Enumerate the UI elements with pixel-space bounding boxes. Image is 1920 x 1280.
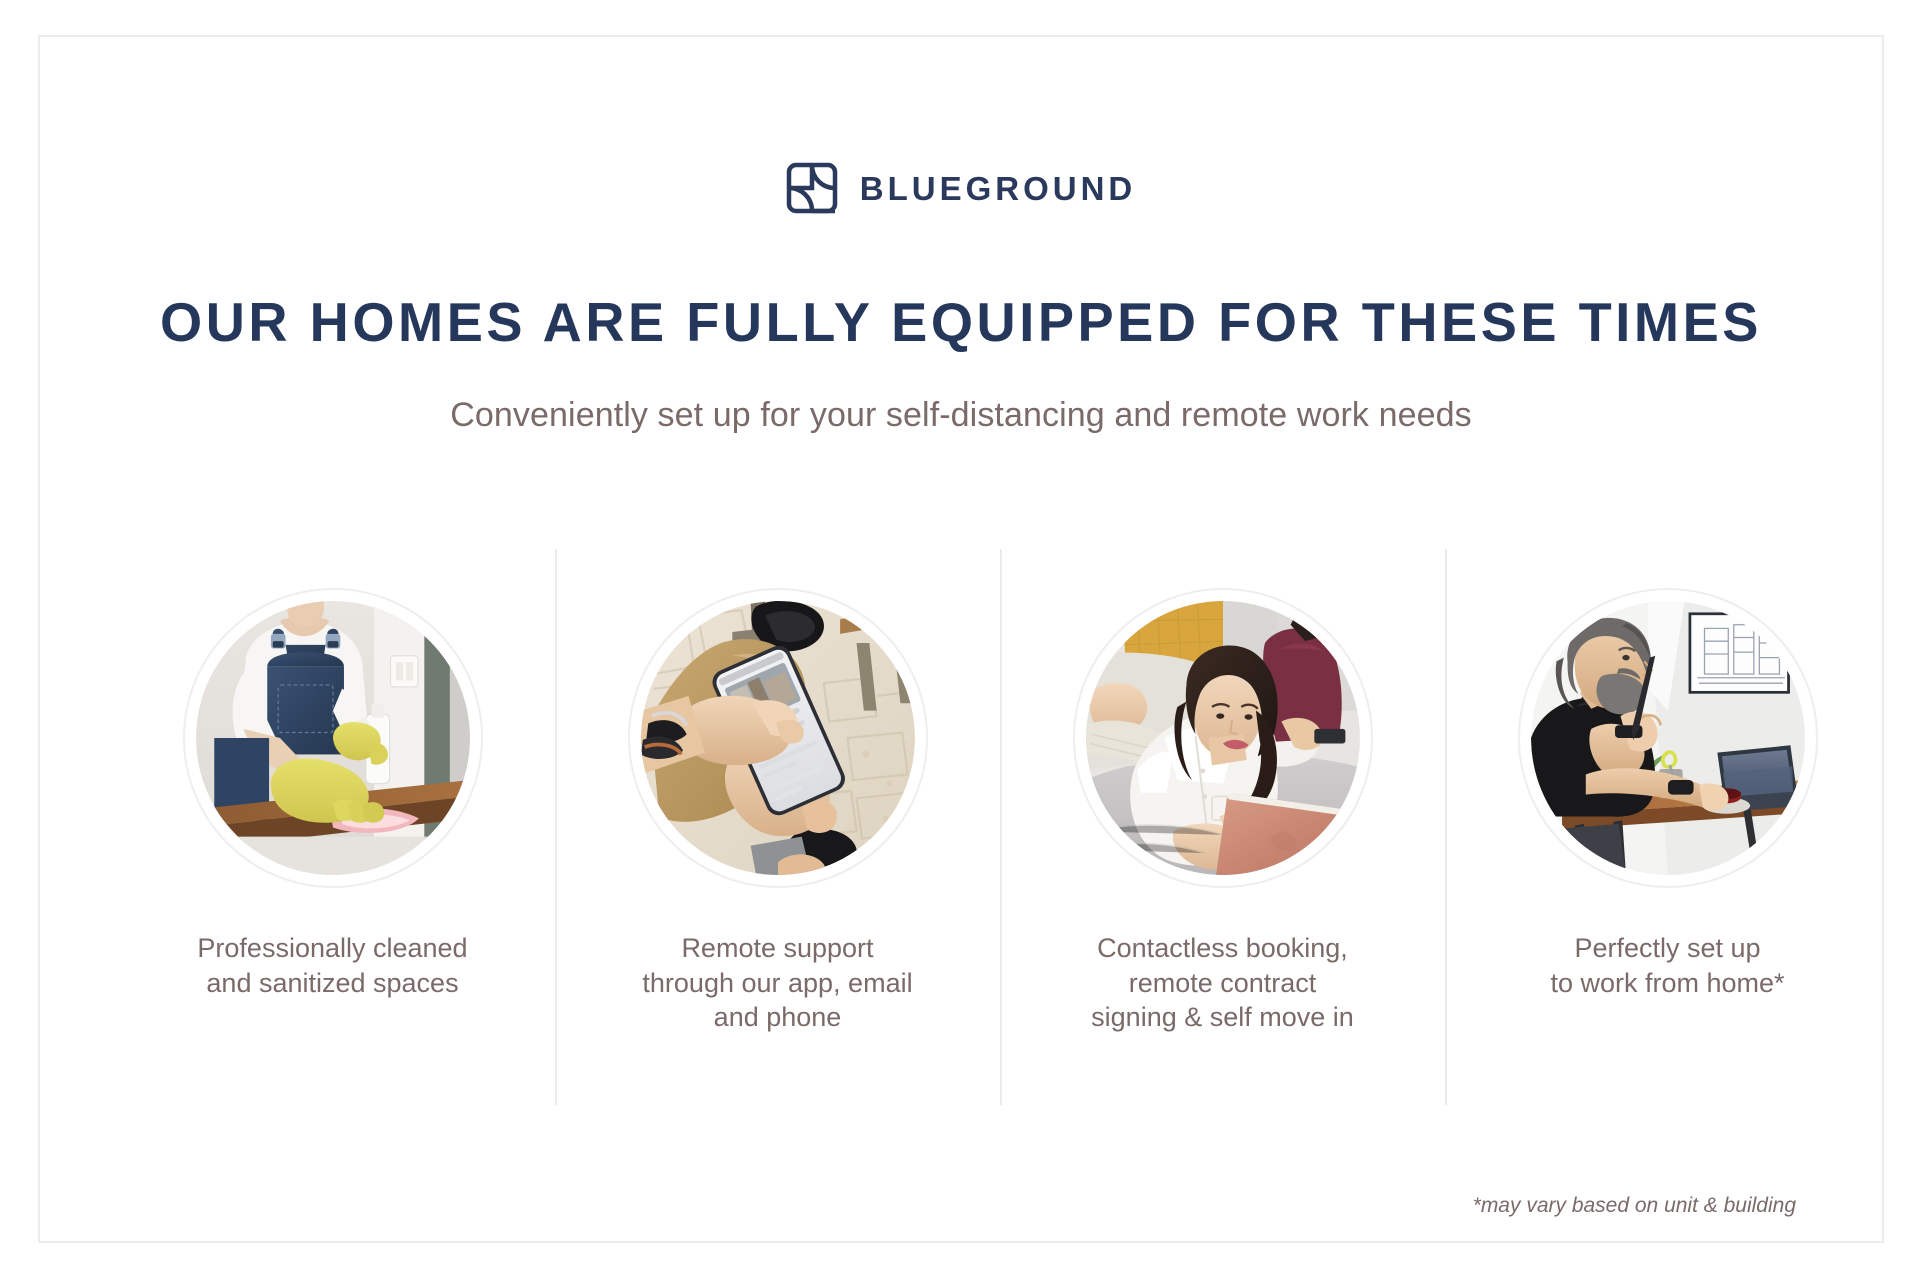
feature-caption: Contactless booking, remote contract sig…: [1085, 931, 1360, 1035]
feature-column-cleaning: Professionally cleaned and sanitized spa…: [110, 549, 555, 1105]
poster-canvas: BLUEGROUND OUR HOMES ARE FULLY EQUIPPED …: [0, 0, 1920, 1280]
card-frame: BLUEGROUND OUR HOMES ARE FULLY EQUIPPED …: [38, 35, 1884, 1243]
feature-caption: Perfectly set up to work from home*: [1544, 931, 1790, 1000]
page-title: OUR HOMES ARE FULLY EQUIPPED FOR THESE T…: [54, 295, 1868, 350]
tablet-booking-photo: [1086, 601, 1360, 875]
brand-lockup: BLUEGROUND: [40, 162, 1882, 214]
feature-grid: Professionally cleaned and sanitized spa…: [110, 549, 1890, 1105]
photo-ring: [183, 588, 483, 888]
feature-column-remote-support: Remote support through our app, email an…: [555, 549, 1000, 1105]
work-from-home-photo: [1531, 601, 1805, 875]
feature-caption: Professionally cleaned and sanitized spa…: [191, 931, 473, 1000]
cleaning-photo: [196, 601, 470, 875]
blueground-square-mark-icon: [786, 162, 838, 214]
footnote: *may vary based on unit & building: [1473, 1195, 1796, 1216]
smartphone-photo: [641, 601, 915, 875]
feature-column-work-from-home: Perfectly set up to work from home*: [1445, 549, 1890, 1105]
photo-ring: [628, 588, 928, 888]
brand-name: BLUEGROUND: [860, 172, 1137, 205]
feature-column-contactless-booking: Contactless booking, remote contract sig…: [1000, 549, 1445, 1105]
photo-ring: [1073, 588, 1373, 888]
photo-ring: [1518, 588, 1818, 888]
feature-caption: Remote support through our app, email an…: [636, 931, 918, 1035]
page-subtitle: Conveniently set up for your self-distan…: [40, 395, 1882, 436]
